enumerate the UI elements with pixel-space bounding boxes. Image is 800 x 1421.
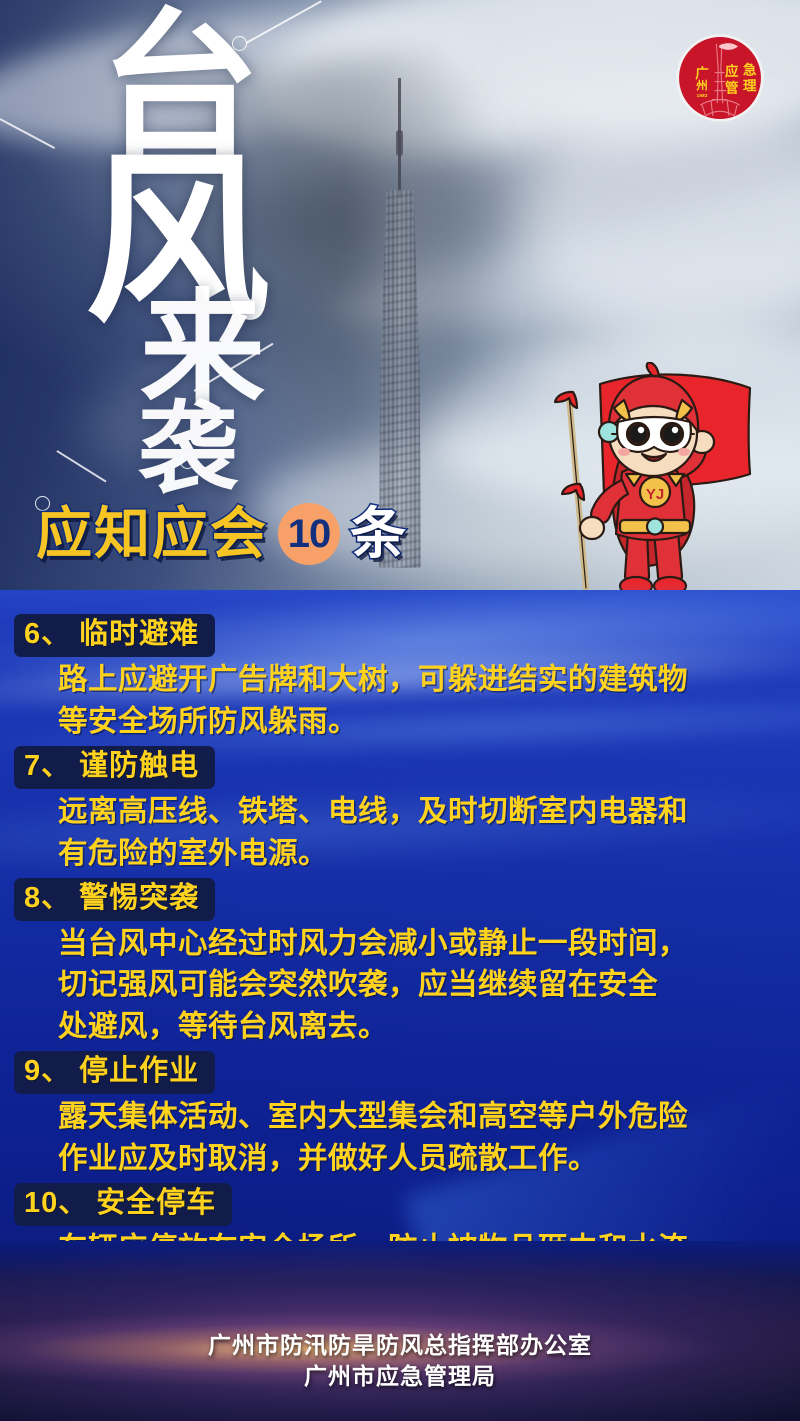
item-title: 临时避难: [79, 618, 199, 650]
item-title: 谨防触电: [79, 750, 199, 782]
item-heading-pill: 7、谨防触电: [14, 746, 215, 789]
item-title: 警惕突袭: [79, 882, 199, 914]
item-heading-pill: 8、警惕突袭: [14, 878, 215, 921]
item-number: 8、: [24, 882, 71, 914]
item-heading-pill: 9、停止作业: [14, 1051, 215, 1094]
item-heading-pill: 10、安全停车: [14, 1183, 232, 1226]
item-title: 安全停车: [96, 1187, 216, 1219]
item-number: 10、: [24, 1187, 88, 1219]
item-body-line: 有危险的室外电源。: [58, 833, 786, 874]
svg-text:广: 广: [695, 65, 709, 81]
item-body-line: 露天集体活动、室内大型集会和高空等户外危险: [58, 1096, 786, 1137]
poster-title: 台 风 来 袭: [0, 0, 420, 540]
typhoon-safety-poster: 台 风 来 袭 广 州 1982 应 急: [0, 0, 800, 1421]
list-item: 6、临时避难 路上应避开广告牌和大树，可躲进结实的建筑物 等安全场所防风躲雨。: [14, 614, 786, 742]
title-char-4: 袭: [138, 400, 238, 500]
guangzhou-emergency-management-logo: 广 州 1982 应 急 管 理: [675, 33, 765, 123]
item-body-line: 处避风，等待台风离去。: [58, 1006, 786, 1047]
item-body-line: 当台风中心经过时风力会减小或静止一段时间，: [58, 923, 786, 964]
svg-text:管: 管: [725, 79, 739, 95]
item-body: 当台风中心经过时风力会减小或静止一段时间， 切记强风可能会突然吹袭，应当继续留在…: [14, 921, 786, 1047]
svg-text:YJ: YJ: [646, 486, 664, 503]
list-item: 9、停止作业 露天集体活动、室内大型集会和高空等户外危险 作业应及时取消，并做好…: [14, 1051, 786, 1179]
svg-text:理: 理: [743, 79, 757, 94]
subtitle-count-badge: 10: [278, 503, 340, 565]
list-item: 7、谨防触电 远离高压线、铁塔、电线，及时切断室内电器和 有危险的室外电源。: [14, 746, 786, 874]
subtitle-banner: 应知应会 10 条: [36, 503, 408, 565]
item-body-line: 远离高压线、铁塔、电线，及时切断室内电器和: [58, 791, 786, 832]
item-body: 远离高压线、铁塔、电线，及时切断室内电器和 有危险的室外电源。: [14, 789, 786, 874]
svg-text:1982: 1982: [697, 93, 708, 99]
item-body-line: 路上应避开广告牌和大树，可躲进结实的建筑物: [58, 659, 786, 700]
item-body: 露天集体活动、室内大型集会和高空等户外危险 作业应及时取消，并做好人员疏散工作。: [14, 1094, 786, 1179]
item-body-line: 等安全场所防风躲雨。: [58, 701, 786, 742]
subtitle-white-text: 条: [350, 506, 408, 562]
item-title: 停止作业: [79, 1055, 199, 1087]
footer-credits: 广州市防汛防旱防风总指挥部办公室 广州市应急管理局: [0, 1330, 800, 1393]
emergency-hero-mascot: YJ: [512, 362, 780, 612]
footer-line-1: 广州市防汛防旱防风总指挥部办公室: [0, 1330, 800, 1362]
item-heading-pill: 6、临时避难: [14, 614, 215, 657]
item-body-line: 作业应及时取消，并做好人员疏散工作。: [58, 1138, 786, 1179]
svg-text:州: 州: [695, 80, 708, 93]
subtitle-gold-text: 应知应会: [36, 506, 268, 562]
item-body-line: 切记强风可能会突然吹袭，应当继续留在安全: [58, 964, 786, 1005]
footer-line-2: 广州市应急管理局: [0, 1361, 800, 1393]
svg-text:急: 急: [743, 61, 757, 77]
item-number: 7、: [24, 750, 71, 782]
list-item: 8、警惕突袭 当台风中心经过时风力会减小或静止一段时间， 切记强风可能会突然吹袭…: [14, 878, 786, 1047]
safety-tips-list: 6、临时避难 路上应避开广告牌和大树，可躲进结实的建筑物 等安全场所防风躲雨。 …: [0, 614, 800, 1274]
item-number: 9、: [24, 1055, 71, 1087]
item-body: 路上应避开广告牌和大树，可躲进结实的建筑物 等安全场所防风躲雨。: [14, 657, 786, 742]
svg-text:应: 应: [725, 63, 739, 79]
item-number: 6、: [24, 618, 71, 650]
